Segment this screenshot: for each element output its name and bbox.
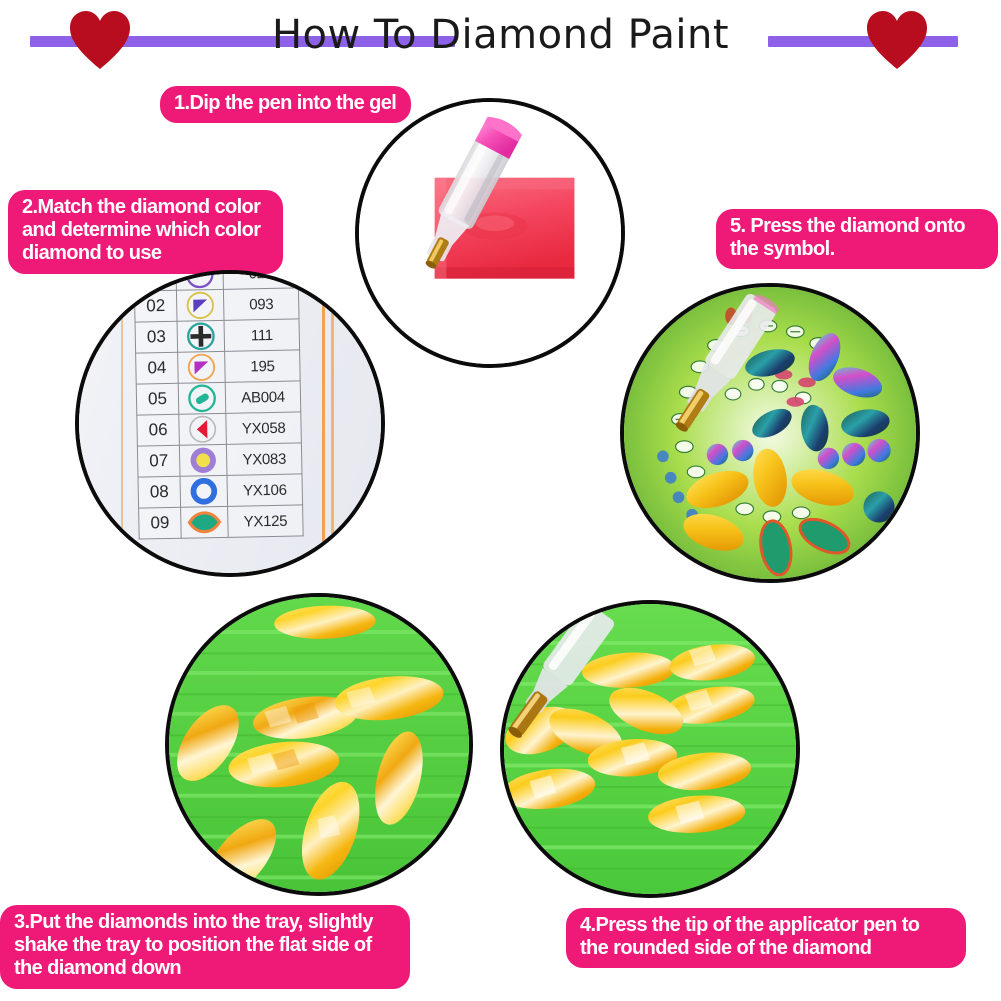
color-row-number: 09 xyxy=(139,507,182,539)
color-row-number: 06 xyxy=(137,414,180,446)
page-title: How To Diamond Paint xyxy=(0,12,1001,58)
ring-symbol xyxy=(180,475,228,507)
color-row-number: 08 xyxy=(138,476,181,508)
step-1-label: 1.Dip the pen into the gel xyxy=(160,86,411,123)
photo-pen-in-gel xyxy=(355,98,625,368)
table-row: 05AB004 xyxy=(136,381,301,415)
color-row-code: YX083 xyxy=(227,443,302,475)
photo-diamonds-in-tray xyxy=(165,593,473,896)
how-to-diamond-paint-infographic: How To Diamond Paint 1.Dip the pen into … xyxy=(0,0,1001,1001)
photo-pen-picks-diamond xyxy=(500,600,800,898)
color-row-code: 093 xyxy=(224,288,299,320)
table-row: 04195 xyxy=(136,350,301,384)
color-symbol-table: 0102802093031110419505AB00406YX05807YX08… xyxy=(133,270,303,540)
color-row-code: YX125 xyxy=(228,505,303,537)
table-row: 07YX083 xyxy=(137,443,302,477)
donut-symbol xyxy=(179,444,227,476)
margin-rule-left xyxy=(121,274,123,573)
color-row-code: 028 xyxy=(223,270,298,289)
margin-rule-right xyxy=(322,274,325,573)
color-row-code: AB004 xyxy=(225,381,300,413)
color-row-code: 195 xyxy=(225,350,300,382)
step-4-label: 4.Press the tip of the applicator pen to… xyxy=(566,908,966,968)
table-row: 09YX125 xyxy=(139,505,304,539)
color-row-number: 02 xyxy=(134,290,177,322)
capsule-symbol xyxy=(178,382,226,414)
color-row-number: 01 xyxy=(134,270,177,291)
table-row: 03111 xyxy=(135,319,300,353)
triangle-symbol xyxy=(177,289,225,321)
color-row-code: 111 xyxy=(224,319,299,351)
step-5-label: 5. Press the diamond onto the symbol. xyxy=(716,209,998,269)
step-2-label: 2.Match the diamond color and determine … xyxy=(8,190,283,274)
color-row-number: 05 xyxy=(136,383,179,415)
chart-paper: 0102802093031110419505AB00406YX05807YX08… xyxy=(79,274,381,573)
table-row: 02093 xyxy=(134,288,299,322)
color-row-number: 07 xyxy=(137,445,180,477)
photo-press-onto-symbol xyxy=(620,283,920,583)
table-row: 08YX106 xyxy=(138,474,303,508)
leaf-symbol xyxy=(181,506,229,538)
color-row-code: YX058 xyxy=(226,412,301,444)
step-3-label: 3.Put the diamonds into the tray, slight… xyxy=(0,905,410,989)
double-dot-circle-symbol xyxy=(176,270,224,290)
color-row-number: 04 xyxy=(136,352,179,384)
triangle-symbol xyxy=(178,351,226,383)
plus-symbol xyxy=(177,320,225,352)
margin-rule-right-2 xyxy=(331,274,334,573)
color-row-number: 03 xyxy=(135,321,178,353)
chevron-left-symbol xyxy=(179,413,227,445)
color-row-code: YX106 xyxy=(227,474,302,506)
table-row: 06YX058 xyxy=(137,412,302,446)
photo-color-chart: 0102802093031110419505AB00406YX05807YX08… xyxy=(75,270,385,577)
